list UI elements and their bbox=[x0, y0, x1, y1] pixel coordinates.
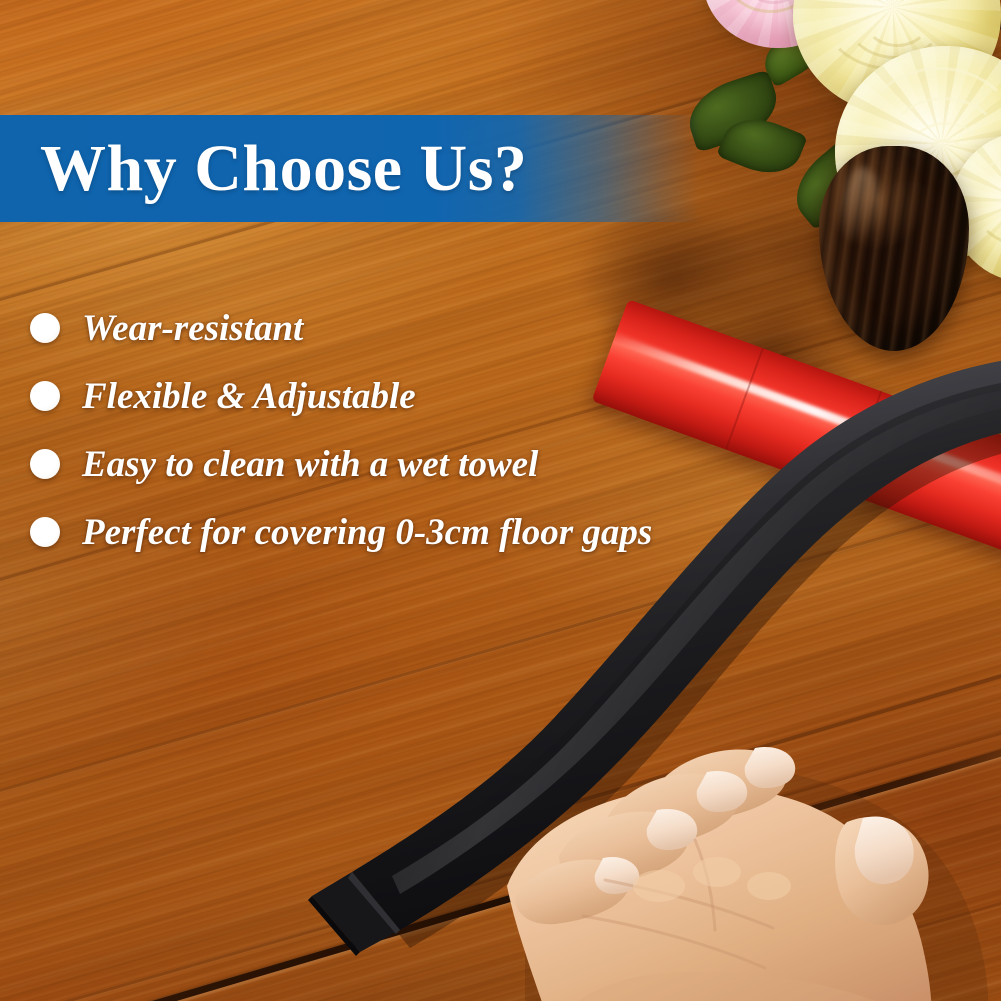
list-item: Flexible & Adjustable bbox=[30, 362, 750, 430]
list-item: Wear-resistant bbox=[30, 294, 750, 362]
hand-pressing-strip bbox=[455, 690, 1001, 1001]
page-title: Why Choose Us? bbox=[0, 136, 527, 202]
feature-text: Perfect for covering 0-3cm floor gaps bbox=[82, 514, 652, 551]
feature-text: Easy to clean with a wet towel bbox=[82, 446, 538, 483]
list-item: Perfect for covering 0-3cm floor gaps bbox=[30, 498, 750, 566]
feature-text: Wear-resistant bbox=[82, 310, 303, 347]
list-item: Easy to clean with a wet towel bbox=[30, 430, 750, 498]
bullet-dot-icon bbox=[30, 313, 60, 343]
bullet-dot-icon bbox=[30, 449, 60, 479]
bullet-dot-icon bbox=[30, 517, 60, 547]
feature-text: Flexible & Adjustable bbox=[82, 378, 416, 415]
bullet-dot-icon bbox=[30, 381, 60, 411]
feature-list: Wear-resistant Flexible & Adjustable Eas… bbox=[30, 294, 750, 566]
product-marketing-image: Why Choose Us? Wear-resistant Flexible &… bbox=[0, 0, 1001, 1001]
banner: Why Choose Us? bbox=[0, 115, 700, 222]
